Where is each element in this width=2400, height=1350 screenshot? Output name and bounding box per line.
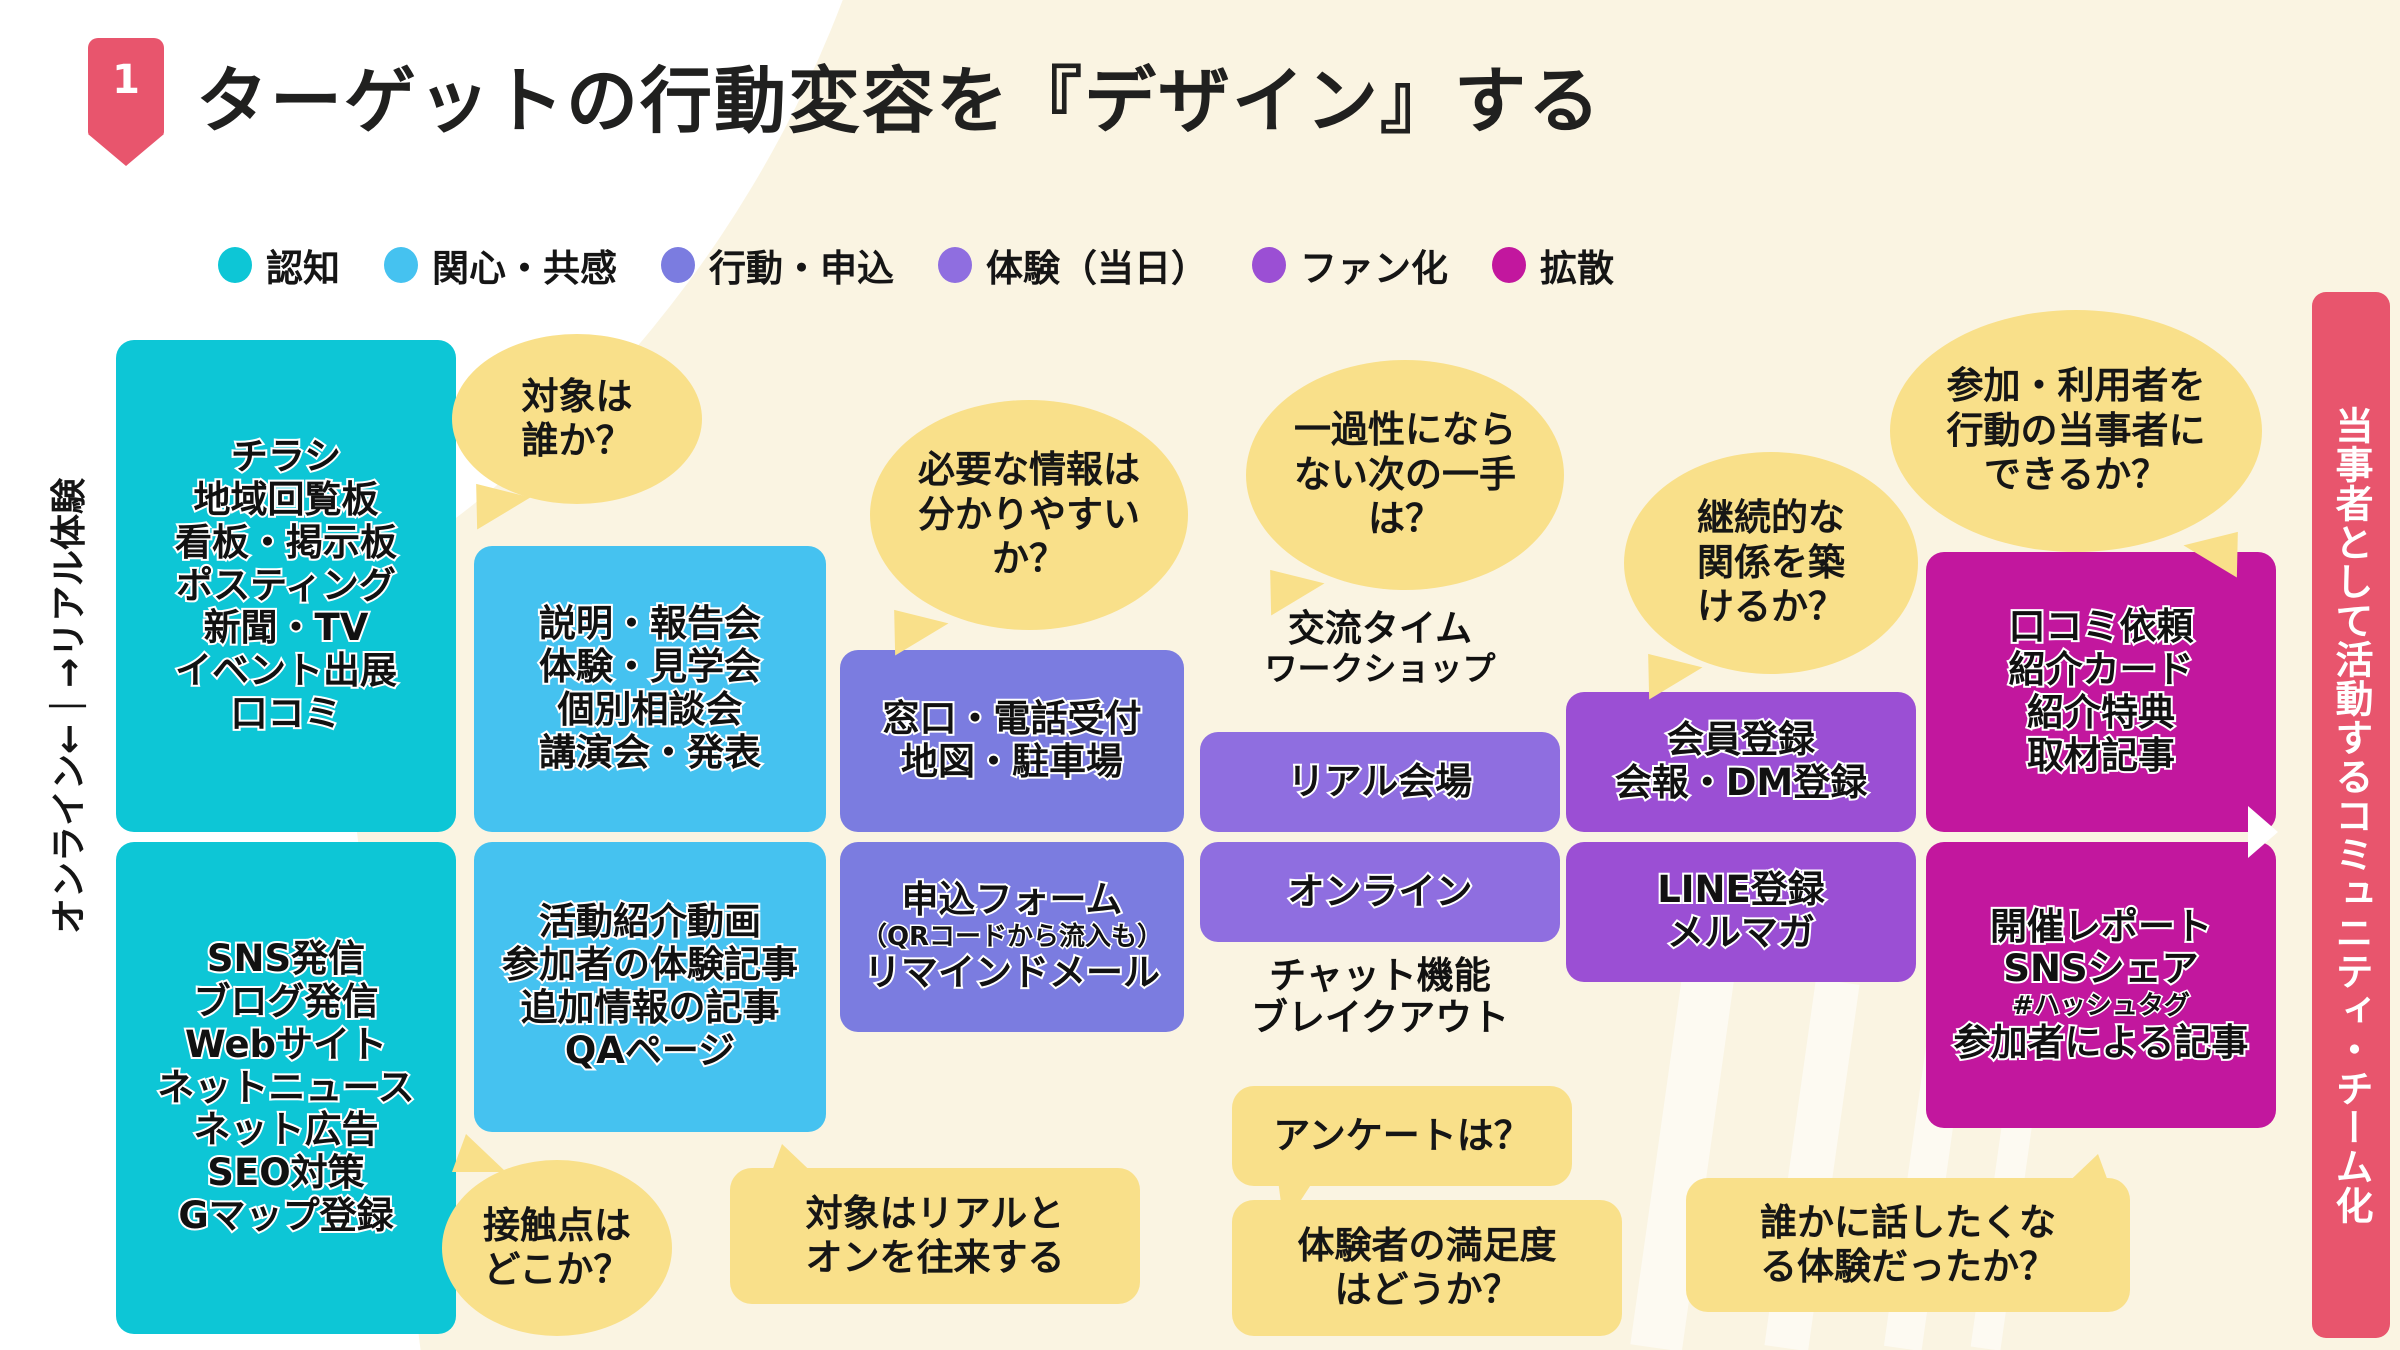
card-line: チラシ	[231, 436, 341, 479]
card-line: 開催レポート	[1990, 906, 2212, 949]
card-experience-real[interactable]: リアル会場	[1200, 732, 1560, 832]
infographic-canvas: 1 ターゲットの行動変容を『デザイン』する 認知 関心・共感 行動・申込 体験（…	[0, 0, 2400, 1350]
card-fan-real[interactable]: 会員登録 会報・DM登録	[1566, 692, 1916, 832]
card-awareness-real[interactable]: チラシ 地域回覧板 看板・掲示板 ポスティング 新聞・TV イベント出展 口コミ	[116, 340, 456, 832]
legend-label-fan: ファン化	[1300, 238, 1448, 292]
legend-label-action: 行動・申込	[709, 238, 894, 292]
card-line: リアル会場	[1288, 761, 1473, 804]
card-line: SNS発信	[207, 938, 365, 981]
card-line: メルマガ	[1667, 912, 1815, 955]
card-line: QAページ	[565, 1030, 735, 1073]
bubble-text: 参加・利用者を 行動の当事者に できるか？	[1947, 364, 2206, 497]
bubble-real-online: 対象はリアルと オンを往来する	[730, 1168, 1140, 1304]
card-line: ブログ発信	[194, 981, 379, 1024]
bubble-tail	[768, 1144, 822, 1182]
card-line: イベント出展	[175, 650, 397, 693]
legend-label-experience: 体験（当日）	[986, 238, 1208, 292]
card-line: 会員登録	[1667, 719, 1815, 762]
card-line: リマインドメール	[864, 952, 1160, 995]
note-line: ワークショップ	[1196, 650, 1564, 688]
card-line: 口コミ	[231, 693, 342, 736]
legend-item-action: 行動・申込	[661, 238, 894, 292]
note-line: チャット機能	[1196, 955, 1564, 997]
card-line: SNSシェア	[2003, 948, 2198, 991]
community-side-bar-label: 当事者として活動するコミュニティ・チーム化	[2332, 406, 2370, 1225]
card-interest-online[interactable]: 活動紹介動画 参加者の体験記事 追加情報の記事 QAページ	[474, 842, 826, 1132]
note-experience-bottom: チャット機能 ブレイクアウト	[1196, 955, 1564, 1039]
bubble-text: 継続的な 関係を築 けるか？	[1697, 496, 1845, 629]
card-action-online[interactable]: 申込フォーム （QRコードから流入も） リマインドメール	[840, 842, 1184, 1032]
bubble-satisfaction: 体験者の満足度 はどうか？	[1232, 1200, 1622, 1336]
bubble-shareable: 誰かに話したくな る体験だったか？	[1686, 1178, 2130, 1312]
card-line: 紹介カード	[2009, 649, 2194, 692]
page-title: ターゲットの行動変容を『デザイン』する	[196, 42, 1602, 147]
legend-label-awareness: 認知	[266, 238, 340, 292]
legend-dot-fan	[1252, 247, 1286, 283]
bubble-tail	[2058, 1154, 2112, 1192]
bubble-touchpoint: 接触点は どこか？	[442, 1160, 672, 1336]
legend-dot-awareness	[218, 247, 252, 283]
card-line: 参加者の体験記事	[502, 944, 798, 987]
bubble-text: 接触点は どこか？	[483, 1204, 631, 1293]
card-line: 看板・掲示板	[175, 522, 397, 565]
bubble-text: 必要な情報は 分かりやすい か？	[918, 448, 1140, 581]
card-line: 講演会・発表	[539, 732, 761, 775]
card-line: 地域回覧板	[194, 479, 379, 522]
axis-label-left: オンライン←｜→リアル体験	[40, 326, 92, 1086]
card-line: 個別相談会	[558, 689, 743, 732]
card-line: 体験・見学会	[539, 646, 761, 689]
legend-label-interest: 関心・共感	[432, 238, 617, 292]
step-badge-number: 1	[112, 60, 140, 100]
bubble-text: 誰かに話したくな る体験だったか？	[1760, 1201, 2056, 1290]
bubble-text: アンケートは？	[1273, 1114, 1531, 1158]
card-line: Gマップ登録	[178, 1195, 393, 1238]
legend: 認知 関心・共感 行動・申込 体験（当日） ファン化 拡散	[218, 238, 1614, 292]
card-line: 追加情報の記事	[521, 987, 780, 1030]
card-line: SEO対策	[207, 1152, 364, 1195]
legend-dot-spread	[1492, 247, 1526, 283]
card-line: ネット広告	[194, 1109, 379, 1152]
step-badge: 1	[88, 38, 164, 136]
card-awareness-online[interactable]: SNS発信 ブログ発信 Webサイト ネットニュース ネット広告 SEO対策 G…	[116, 842, 456, 1334]
card-spread-real[interactable]: 口コミ依頼 紹介カード 紹介特典 取材記事	[1926, 552, 2276, 832]
card-line: 新聞・TV	[204, 607, 369, 650]
card-line: オンライン	[1288, 871, 1473, 914]
legend-item-interest: 関心・共感	[384, 238, 617, 292]
bubble-participant-actor: 参加・利用者を 行動の当事者に できるか？	[1890, 310, 2262, 552]
legend-item-spread: 拡散	[1492, 238, 1614, 292]
note-experience-top: 交流タイム ワークショップ	[1196, 608, 1564, 688]
card-line: Webサイト	[185, 1024, 387, 1067]
legend-dot-interest	[384, 247, 418, 283]
card-line: 紹介特典	[2027, 692, 2175, 735]
card-line: 窓口・電話受付	[883, 698, 1142, 741]
legend-dot-experience	[938, 247, 972, 283]
card-line: 地図・駐車場	[901, 741, 1123, 784]
card-line-note: #ハッシュタグ	[2012, 991, 2190, 1021]
card-line: 会報・DM登録	[1615, 762, 1868, 805]
card-line: ネットニュース	[157, 1067, 414, 1110]
bubble-text: 一過性になら ない次の一手 は？	[1294, 408, 1516, 541]
card-line-note: （QRコードから流入も）	[861, 922, 1163, 952]
legend-label-spread: 拡散	[1540, 238, 1614, 292]
bubble-info-clear: 必要な情報は 分かりやすい か？	[870, 400, 1188, 630]
card-line: 参加者による記事	[1954, 1022, 2249, 1065]
card-action-real[interactable]: 窓口・電話受付 地図・駐車場	[840, 650, 1184, 832]
legend-dot-action	[661, 247, 695, 283]
card-line: 申込フォーム	[902, 879, 1123, 922]
card-line: 説明・報告会	[539, 603, 761, 646]
bubble-text: 体験者の満足度 はどうか？	[1298, 1224, 1557, 1313]
card-spread-online[interactable]: 開催レポート SNSシェア #ハッシュタグ 参加者による記事	[1926, 842, 2276, 1128]
legend-item-awareness: 認知	[218, 238, 340, 292]
card-experience-online[interactable]: オンライン	[1200, 842, 1560, 942]
bubble-continuous: 継続的な 関係を築 けるか？	[1624, 452, 1918, 674]
bubble-text: 対象はリアルと オンを往来する	[806, 1192, 1065, 1281]
legend-item-experience: 体験（当日）	[938, 238, 1208, 292]
card-line: 活動紹介動画	[539, 901, 761, 944]
bubble-target-who: 対象は 誰か？	[452, 334, 702, 504]
card-fan-online[interactable]: LINE登録 メルマガ	[1566, 842, 1916, 982]
card-line: ポスティング	[176, 565, 396, 608]
community-side-bar: 当事者として活動するコミュニティ・チーム化	[2312, 292, 2390, 1338]
note-line: ブレイクアウト	[1196, 997, 1564, 1039]
card-line: 取材記事	[2027, 735, 2175, 778]
bubble-text: 対象は 誰か？	[522, 375, 633, 464]
bubble-survey: アンケートは？	[1232, 1086, 1572, 1186]
flow-arrow-right-icon	[2248, 806, 2278, 858]
bubble-next-move: 一過性になら ない次の一手 は？	[1246, 360, 1564, 590]
card-line: LINE登録	[1657, 869, 1825, 912]
bubble-tail	[452, 1134, 506, 1172]
card-interest-real[interactable]: 説明・報告会 体験・見学会 個別相談会 講演会・発表	[474, 546, 826, 832]
legend-item-fan: ファン化	[1252, 238, 1448, 292]
card-line: 口コミ依頼	[2009, 606, 2194, 649]
note-line: 交流タイム	[1196, 608, 1564, 650]
